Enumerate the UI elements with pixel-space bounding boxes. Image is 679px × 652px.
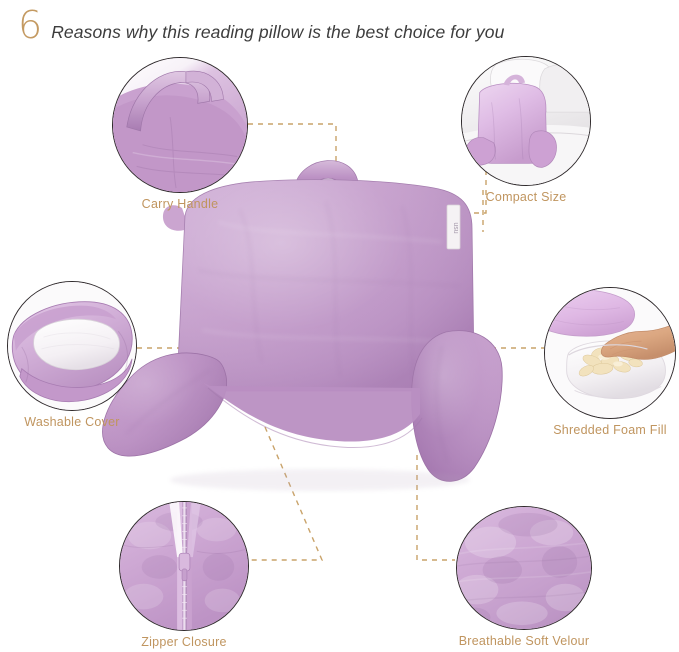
feature-washable-cover-image	[7, 281, 137, 411]
feature-breathable-soft-velour-image	[456, 506, 592, 630]
feature-carry-handle[interactable]: Carry Handle	[112, 57, 248, 193]
feature-shredded-foam-fill-image	[544, 287, 676, 419]
product-tag: usu	[447, 205, 460, 249]
feature-compact-size-image	[461, 56, 591, 186]
product-tag-text: usu	[452, 222, 459, 233]
feature-shredded-foam-fill[interactable]: Shredded Foam Fill	[544, 287, 676, 419]
feature-zipper-closure-label: Zipper Closure	[119, 635, 249, 649]
feature-carry-handle-image	[112, 57, 248, 193]
feature-breathable-soft-velour-label: Breathable Soft Velour	[456, 634, 592, 648]
infographic-canvas: 6 Reasons why this reading pillow is the…	[0, 0, 679, 652]
feature-breathable-soft-velour[interactable]: Breathable Soft Velour	[456, 506, 592, 630]
feature-zipper-closure[interactable]: Zipper Closure	[119, 501, 249, 631]
feature-compact-size-label: Compact Size	[461, 190, 591, 204]
feature-carry-handle-label: Carry Handle	[112, 197, 248, 211]
feature-shredded-foam-fill-label: Shredded Foam Fill	[544, 423, 676, 437]
feature-washable-cover[interactable]: Washable Cover	[7, 281, 137, 411]
feature-washable-cover-label: Washable Cover	[7, 415, 137, 429]
feature-zipper-closure-image	[119, 501, 249, 631]
feature-compact-size[interactable]: Compact Size	[461, 56, 591, 186]
